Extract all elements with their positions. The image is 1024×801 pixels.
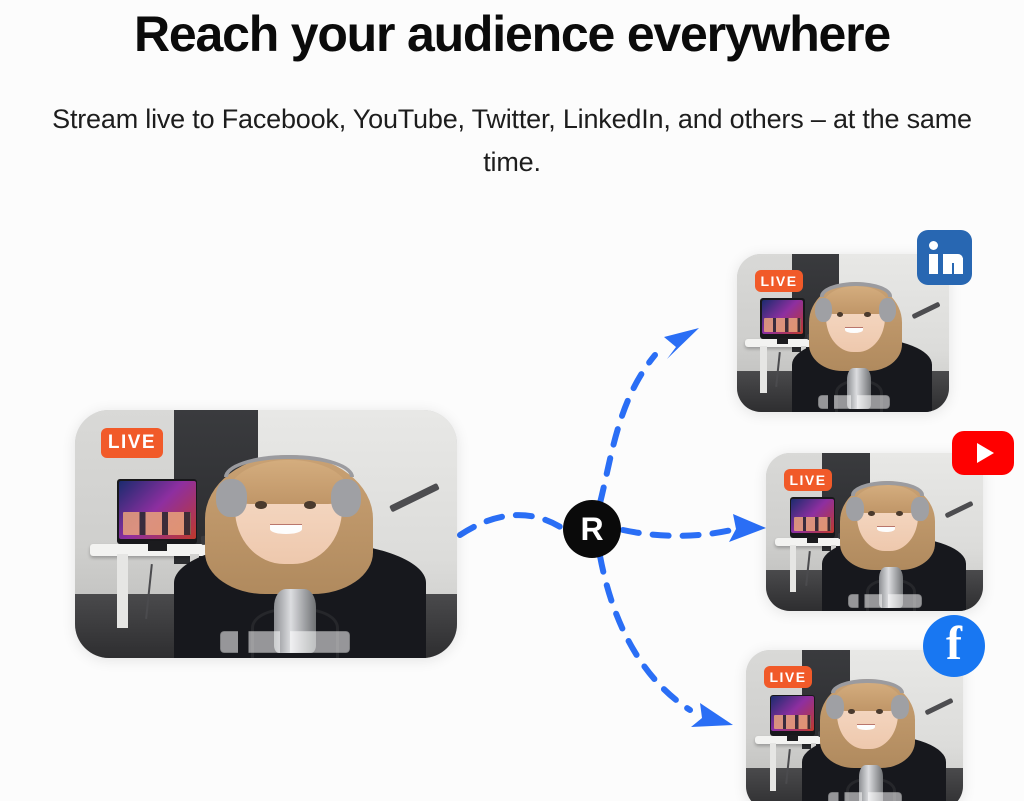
- linkedin-icon[interactable]: [917, 230, 972, 285]
- source-stream-preview[interactable]: LIVE: [75, 410, 457, 658]
- live-badge: LIVE: [101, 428, 163, 458]
- live-badge: LIVE: [755, 270, 803, 292]
- live-badge: LIVE: [764, 666, 812, 688]
- live-badge: LIVE: [784, 469, 832, 491]
- output-stream-preview-youtube[interactable]: LIVE: [766, 453, 983, 611]
- restream-hub-node[interactable]: R: [563, 500, 621, 558]
- youtube-icon[interactable]: [952, 431, 1014, 475]
- page-root: Reach your audience everywhere Stream li…: [0, 0, 1024, 801]
- page-subtitle: Stream live to Facebook, YouTube, Twitte…: [0, 98, 1024, 184]
- page-title: Reach your audience everywhere: [0, 6, 1024, 64]
- facebook-icon[interactable]: f: [923, 615, 985, 677]
